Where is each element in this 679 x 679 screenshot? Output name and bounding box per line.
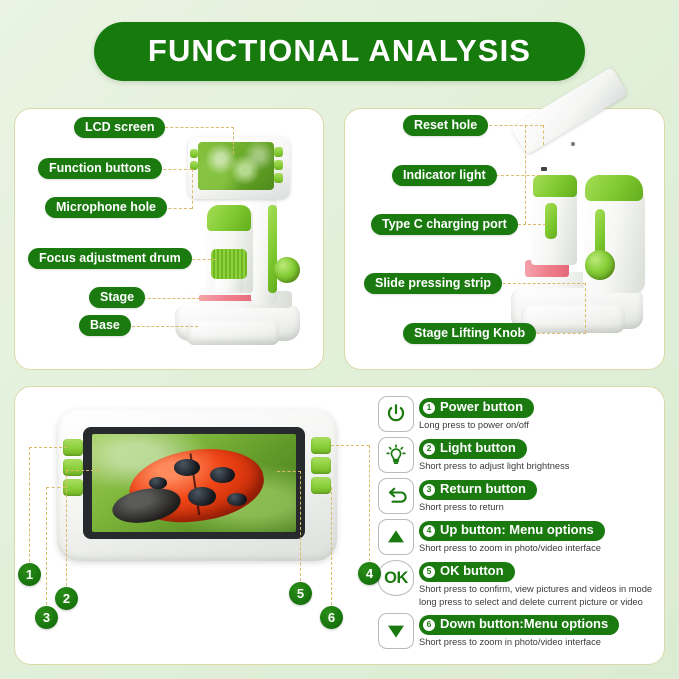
legend-pill-up: 4 Up button: Menu options (419, 521, 605, 541)
callout-number-2: 2 (55, 587, 78, 610)
leader-num-6-v (331, 487, 332, 605)
leader-num-5-v (300, 471, 301, 581)
legend-row-down: 6 Down button:Menu options Short press t… (378, 613, 660, 649)
legend-desc-ok-line2: long press to select and delete current … (419, 596, 652, 608)
page-title: FUNCTIONAL ANALYSIS (94, 22, 585, 81)
legend-row-return: 3 Return button Short press to return (378, 478, 660, 514)
body-top-green-cap (585, 175, 643, 201)
leader-microphone-hole-v (192, 169, 193, 209)
rear-view-panel: Reset hole Indicator light Type C chargi… (344, 108, 665, 370)
leader-reset-hole-v (543, 125, 544, 145)
lcd-right-button-1 (274, 147, 283, 157)
label-focus-adjustment-drum: Focus adjustment drum (28, 248, 192, 269)
legend-pill-power: 1 Power button (419, 398, 534, 418)
legend-num-6: 6 (423, 619, 435, 631)
reset-hole (571, 142, 575, 146)
legend-num-3: 3 (423, 484, 435, 496)
legend-row-light: 2 Light button Short press to adjust lig… (378, 437, 660, 473)
legend-pill-down: 6 Down button:Menu options (419, 615, 619, 635)
ladybug-spot (174, 459, 201, 476)
screen-preview-ladybug (92, 434, 296, 532)
legend-num-5: 5 (423, 566, 435, 578)
leader-num-3 (46, 487, 66, 488)
return-arrow-icon (378, 478, 414, 514)
lcd-bezel (198, 142, 274, 190)
leader-num-2-v (66, 470, 67, 586)
legend-desc-down: Short press to zoom in photo/video inter… (419, 636, 619, 648)
leader-stage (143, 298, 205, 299)
microscope-base-front-rear (521, 305, 625, 333)
leader-num-2 (66, 470, 99, 471)
callout-number-3: 3 (35, 606, 58, 629)
legend-label-light: Light button (440, 441, 516, 456)
leader-num-4 (331, 445, 369, 446)
page-title-container: FUNCTIONAL ANALYSIS (0, 22, 679, 81)
front-view-panel: LCD screen Function buttons Microphone h… (14, 108, 324, 370)
legend-desc-light: Short press to adjust light brightness (419, 460, 569, 472)
label-slide-pressing-strip: Slide pressing strip (364, 273, 502, 294)
legend-label-up: Up button: Menu options (440, 523, 594, 538)
legend-label-power: Power button (440, 400, 523, 415)
lcd-left-button-1 (190, 149, 198, 158)
legend-label-return: Return button (440, 482, 526, 497)
legend-row-power: 1 Power button Long press to power on/of… (378, 396, 660, 432)
callout-number-5: 5 (289, 582, 312, 605)
label-indicator-light: Indicator light (392, 165, 497, 186)
tube-green-collar-rear (533, 175, 577, 197)
leader-num-5 (277, 471, 301, 472)
legend-text-up: 4 Up button: Menu options Short press to… (419, 519, 605, 555)
label-type-c-charging-port: Type C charging port (371, 214, 518, 235)
label-lcd-screen: LCD screen (74, 117, 165, 138)
label-stage: Stage (89, 287, 145, 308)
leader-type-c-port (518, 224, 546, 225)
label-base: Base (79, 315, 131, 336)
label-stage-lifting-knob: Stage Lifting Knob (403, 323, 536, 344)
ok-icon-label: OK (384, 569, 408, 588)
lcd-right-button-3 (274, 173, 283, 183)
lcd-right-button-2 (274, 160, 283, 170)
legend-row-up: 4 Up button: Menu options Short press to… (378, 519, 660, 555)
label-function-buttons: Function buttons (38, 158, 162, 179)
tube-green-collar (207, 205, 251, 231)
legend-num-4: 4 (423, 525, 435, 537)
legend-num-2: 2 (423, 443, 435, 455)
device-button-4[interactable] (311, 437, 331, 454)
stage-lifting-knob (274, 257, 300, 283)
indicator-light (541, 167, 547, 171)
legend-text-ok: 5 OK button Short press to confirm, view… (419, 560, 652, 608)
down-triangle-icon (378, 613, 414, 649)
leader-stage-knob-v (585, 283, 586, 333)
legend-desc-return: Short press to return (419, 501, 537, 513)
legend-num-1: 1 (423, 402, 435, 414)
leader-num-1 (29, 447, 67, 448)
legend-pill-light: 2 Light button (419, 439, 527, 459)
leader-num-1-v (29, 447, 30, 562)
ladybug-spot (188, 487, 217, 506)
legend-text-light: 2 Light button Short press to adjust lig… (419, 437, 569, 473)
lightbulb-icon (378, 437, 414, 473)
callout-number-4: 4 (358, 562, 381, 585)
legend-text-return: 3 Return button Short press to return (419, 478, 537, 514)
device-screen (83, 427, 305, 539)
leader-num-3-v (46, 487, 47, 605)
power-icon (378, 396, 414, 432)
leader-slide-strip (503, 283, 585, 284)
button-legend-list: 1 Power button Long press to power on/of… (378, 396, 660, 654)
stage-lifting-knob-rear (585, 250, 615, 280)
device-button-6[interactable] (311, 477, 331, 494)
handheld-device-illustration (15, 387, 375, 666)
leader-lcd-screen (233, 127, 234, 154)
legend-label-ok: OK button (440, 564, 504, 579)
column-green-accent (268, 205, 277, 293)
legend-label-down: Down button:Menu options (440, 617, 608, 632)
microscope-base-front (187, 321, 279, 345)
tube-green-stripe (545, 203, 557, 239)
device-button-5[interactable] (311, 457, 331, 474)
leader-num-4-v (369, 445, 370, 561)
ok-icon: OK (378, 560, 414, 596)
legend-desc-up: Short press to zoom in photo/video inter… (419, 542, 605, 554)
label-microphone-hole: Microphone hole (45, 197, 167, 218)
leader-type-c-port-v (525, 125, 526, 224)
callout-number-6: 6 (320, 606, 343, 629)
ladybug-spot (210, 467, 234, 483)
slide-strip (199, 295, 257, 301)
callout-number-1: 1 (18, 563, 41, 586)
lcd-preview-image (198, 142, 274, 190)
legend-pill-return: 3 Return button (419, 480, 537, 500)
legend-desc-ok-line1: Short press to confirm, view pictures an… (419, 583, 652, 595)
microscope-front-illustration (15, 109, 325, 371)
leader-base (132, 326, 198, 327)
legend-pill-ok: 5 OK button (419, 562, 515, 582)
focus-drum (211, 249, 247, 279)
legend-desc-power: Long press to power on/off (419, 419, 534, 431)
up-triangle-icon (378, 519, 414, 555)
legend-row-ok: OK 5 OK button Short press to confirm, v… (378, 560, 660, 608)
legend-text-power: 1 Power button Long press to power on/of… (419, 396, 534, 432)
label-reset-hole: Reset hole (403, 115, 488, 136)
ladybug-spot (227, 493, 247, 506)
objective-lens (215, 279, 243, 292)
legend-text-down: 6 Down button:Menu options Short press t… (419, 613, 619, 649)
